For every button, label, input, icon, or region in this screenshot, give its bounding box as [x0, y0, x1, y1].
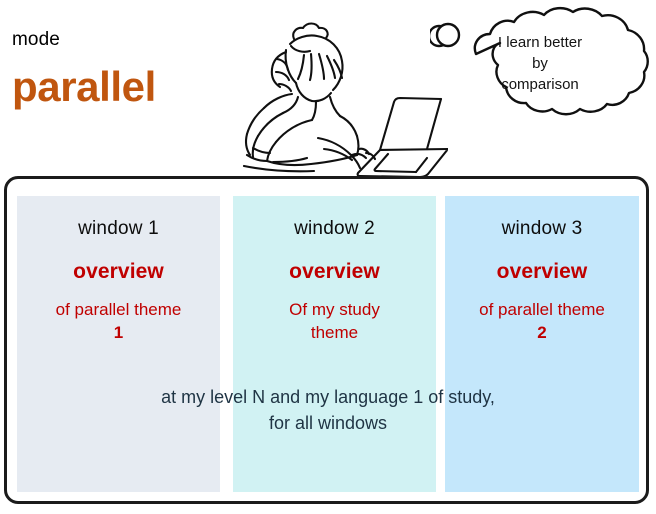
window-panel-1[interactable]: window 1 overview of parallel theme 1	[17, 196, 220, 492]
window-1-subtitle: of parallel theme 1	[17, 298, 220, 344]
window-panel-2[interactable]: window 2 overview Of my study theme	[233, 196, 436, 492]
window-2-subtitle: Of my study theme	[233, 298, 436, 344]
person-at-laptop-thinking-icon	[198, 2, 448, 176]
window-1-title: window 1	[17, 218, 220, 240]
window-1-overview: overview	[17, 260, 220, 284]
window-1-number: 1	[23, 321, 214, 344]
mode-label: mode	[12, 29, 60, 51]
windows-row: window 1 overview of parallel theme 1 wi…	[17, 196, 639, 492]
window-2-title: window 2	[233, 218, 436, 240]
window-3-number: 2	[451, 321, 633, 344]
window-3-overview: overview	[445, 260, 639, 284]
window-3-subtitle-text: of parallel theme	[479, 300, 605, 319]
mode-value: parallel	[12, 66, 156, 108]
window-panel-3[interactable]: window 3 overview of parallel theme 2	[445, 196, 639, 492]
window-1-subtitle-text: of parallel theme	[56, 300, 182, 319]
thought-bubble-line-2: by	[462, 53, 618, 74]
window-2-number: theme	[239, 321, 430, 344]
window-2-subtitle-text: Of my study	[289, 300, 380, 319]
window-2-overview: overview	[233, 260, 436, 284]
thought-bubble-line-1: I learn better	[462, 32, 618, 53]
window-3-subtitle: of parallel theme 2	[445, 298, 639, 344]
thought-bubble-text: I learn better by comparison	[462, 32, 618, 95]
window-3-title: window 3	[445, 218, 639, 240]
thought-bubble-line-3: comparison	[462, 74, 618, 95]
header: mode parallel	[0, 0, 656, 176]
